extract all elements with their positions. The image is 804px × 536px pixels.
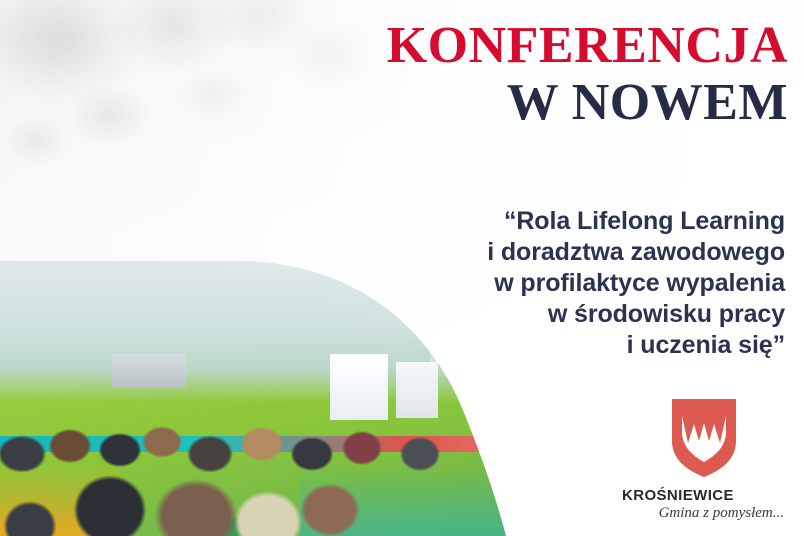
quote-line-2: i doradztwa zawodowego	[355, 237, 785, 268]
poster-quote: “Rola Lifelong Learning i doradztwa zawo…	[355, 206, 785, 361]
logo-tagline: Gmina z pomysłem...	[618, 505, 784, 522]
quote-line-3: w profilaktyce wypalenia	[355, 268, 785, 299]
title-line-konferencja: KONFERENCJA	[268, 18, 788, 74]
quote-line-4: w środowisku pracy	[355, 299, 785, 330]
krosniewice-coat-of-arms-icon	[672, 399, 736, 477]
quote-line-1: “Rola Lifelong Learning	[355, 206, 785, 237]
logo-municipality-name: KROŚNIEWICE	[622, 487, 790, 504]
krosniewice-logo: KROŚNIEWICE Gmina z pomysłem...	[618, 399, 790, 522]
title-line-w-nowem: W NOWEM	[268, 74, 788, 132]
quote-line-5: i uczenia się”	[355, 330, 785, 361]
poster-title: KONFERENCJA W NOWEM	[268, 18, 788, 132]
conference-poster: KONFERENCJA W NOWEM “Rola Lifelong Learn…	[0, 0, 804, 536]
